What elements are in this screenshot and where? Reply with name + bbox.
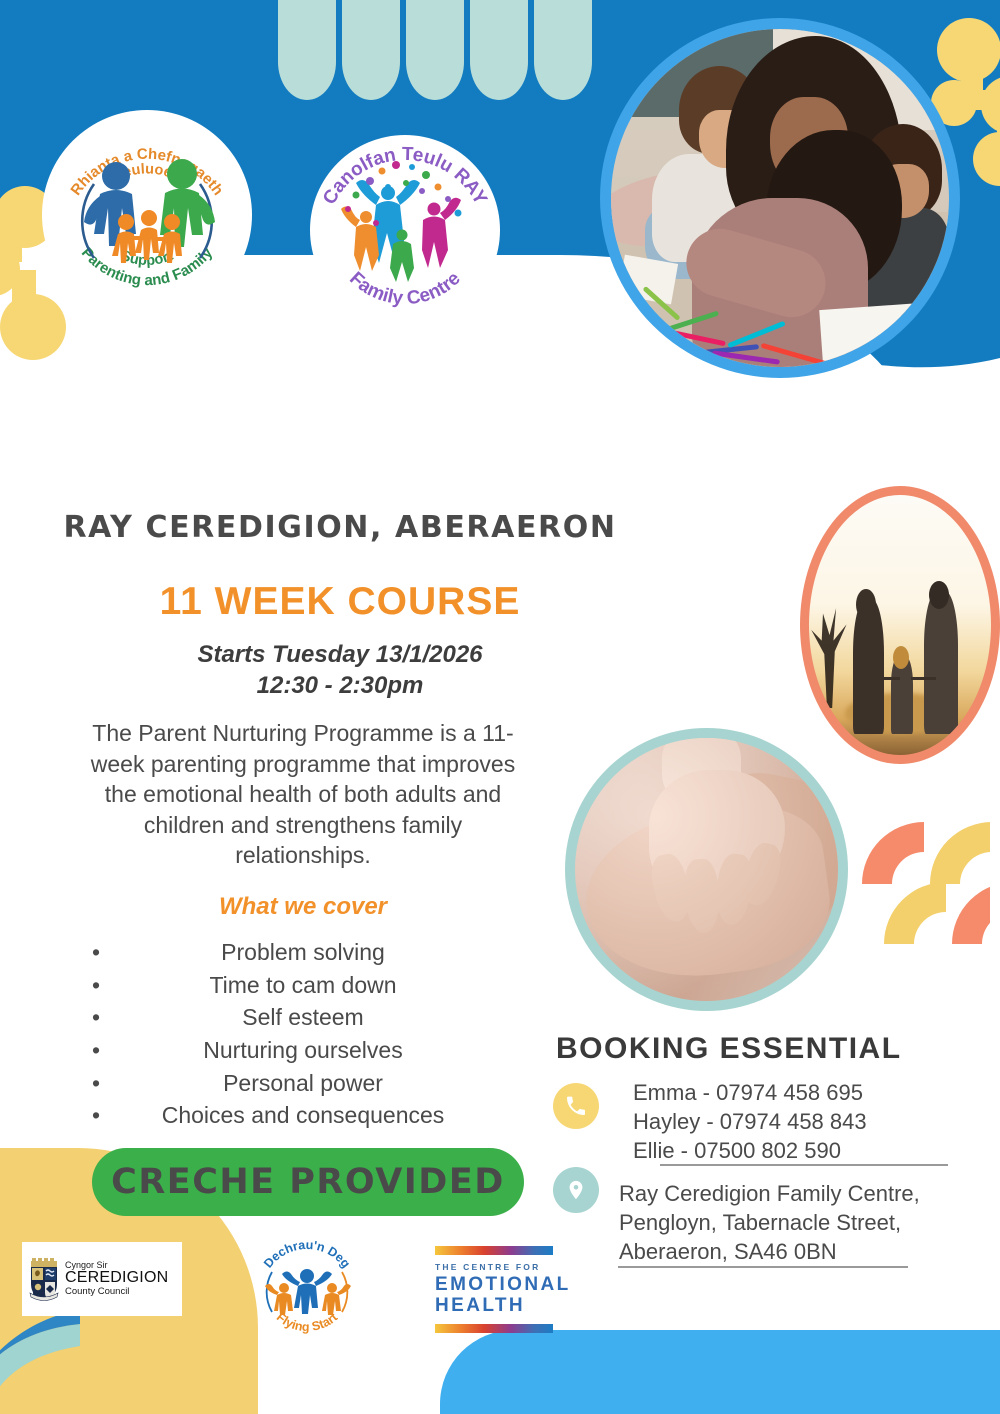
map-pin-icon xyxy=(553,1167,599,1213)
logo-ceredigion-county-council: Cyngor Sir CEREDIGION County Council xyxy=(22,1242,182,1316)
bullet-icon: • xyxy=(92,1001,100,1034)
list-item-label: Choices and consequences xyxy=(162,1102,445,1128)
what-we-cover-list: •Problem solving •Time to cam down •Self… xyxy=(78,936,528,1132)
council-line-2: CEREDIGION xyxy=(65,1270,168,1287)
gradient-bar-bottom xyxy=(435,1324,553,1333)
logo-ray-family-centre: Canolfan Teulu RAY Family Centre xyxy=(310,135,500,325)
list-item: •Personal power xyxy=(78,1067,528,1100)
bullet-icon: • xyxy=(92,969,100,1002)
council-line-3: County Council xyxy=(65,1287,168,1297)
address-line-3: Aberaeron, SA46 0BN xyxy=(619,1237,920,1266)
gradient-bar-top xyxy=(435,1246,553,1255)
creche-badge: CRECHE PROVIDED xyxy=(92,1148,524,1216)
arc-decoration-quotes xyxy=(862,822,990,944)
list-item: •Self esteem xyxy=(78,1001,528,1034)
divider-bottom xyxy=(618,1266,908,1268)
list-item: •Nurturing ourselves xyxy=(78,1034,528,1067)
photo-baby-hand-in-adult-hands xyxy=(565,728,848,1011)
blue-bottom-wave xyxy=(440,1330,1000,1414)
list-item: •Time to cam down xyxy=(78,969,528,1002)
address-line-2: Pengloyn, Tabernacle Street, xyxy=(619,1208,920,1237)
bullet-icon: • xyxy=(92,1067,100,1100)
location-subtitle: RAY CEREDIGION, ABERAERON xyxy=(40,510,640,545)
what-we-cover-heading: What we cover xyxy=(78,893,528,921)
logo-parenting-and-family-support: Rhianta a Chefnogaeth i Deuluoedd Parent… xyxy=(42,110,252,320)
programme-description: The Parent Nurturing Programme is a 11-w… xyxy=(78,718,528,871)
photo-family-at-sunset xyxy=(800,486,1000,764)
svg-text:Family Centre: Family Centre xyxy=(345,268,464,309)
venue-address: Ray Ceredigion Family Centre, Pengloyn, … xyxy=(619,1179,920,1266)
phone-icon xyxy=(553,1083,599,1129)
address-line-1: Ray Ceredigion Family Centre, xyxy=(619,1179,920,1208)
start-time: 12:30 - 2:30pm xyxy=(40,671,640,702)
list-item-label: Nurturing ourselves xyxy=(203,1037,402,1063)
ceh-line-3: HEALTH xyxy=(435,1295,575,1316)
bullet-icon: • xyxy=(92,936,100,969)
photo-mother-and-children-drawing xyxy=(600,18,960,378)
list-item-label: Personal power xyxy=(223,1070,383,1096)
logo-flying-start: Dechrau'n Deg Flying Start xyxy=(252,1238,362,1336)
contact-ellie: Ellie - 07500 802 590 xyxy=(633,1136,867,1165)
logo2-english: Family Centre xyxy=(345,268,464,309)
poster-root: Rhianta a Chefnogaeth i Deuluoedd Parent… xyxy=(0,0,1000,1414)
list-item-label: Self esteem xyxy=(242,1004,363,1030)
start-date: Starts Tuesday 13/1/2026 xyxy=(40,640,640,671)
ceh-line-2: EMOTIONAL xyxy=(435,1274,575,1295)
booking-contacts: Emma - 07974 458 695 Hayley - 07974 458 … xyxy=(633,1078,867,1165)
contact-emma: Emma - 07974 458 695 xyxy=(633,1078,867,1107)
council-text: Cyngor Sir CEREDIGION County Council xyxy=(65,1261,168,1297)
bullet-icon: • xyxy=(92,1099,100,1132)
svg-text:Dechrau'n Deg: Dechrau'n Deg xyxy=(261,1238,353,1271)
course-schedule: Starts Tuesday 13/1/2026 12:30 - 2:30pm xyxy=(40,640,640,701)
booking-heading: BOOKING ESSENTIAL xyxy=(556,1032,976,1066)
ceh-line-1: THE CENTRE FOR xyxy=(435,1262,575,1272)
bullet-icon: • xyxy=(92,1034,100,1067)
list-item-label: Time to cam down xyxy=(209,972,396,998)
divider-top xyxy=(660,1164,948,1166)
petal-decoration xyxy=(278,0,628,102)
contact-hayley: Hayley - 07974 458 843 xyxy=(633,1107,867,1136)
logo-centre-for-emotional-health: THE CENTRE FOR EMOTIONAL HEALTH xyxy=(435,1246,575,1332)
list-item: •Problem solving xyxy=(78,936,528,969)
list-item: •Choices and consequences xyxy=(78,1099,528,1132)
list-item-label: Problem solving xyxy=(221,939,385,965)
ceredigion-crest-icon xyxy=(28,1257,60,1301)
course-length: 11 WEEK COURSE xyxy=(40,580,640,624)
flying-start-welsh: Dechrau'n Deg xyxy=(261,1238,353,1271)
